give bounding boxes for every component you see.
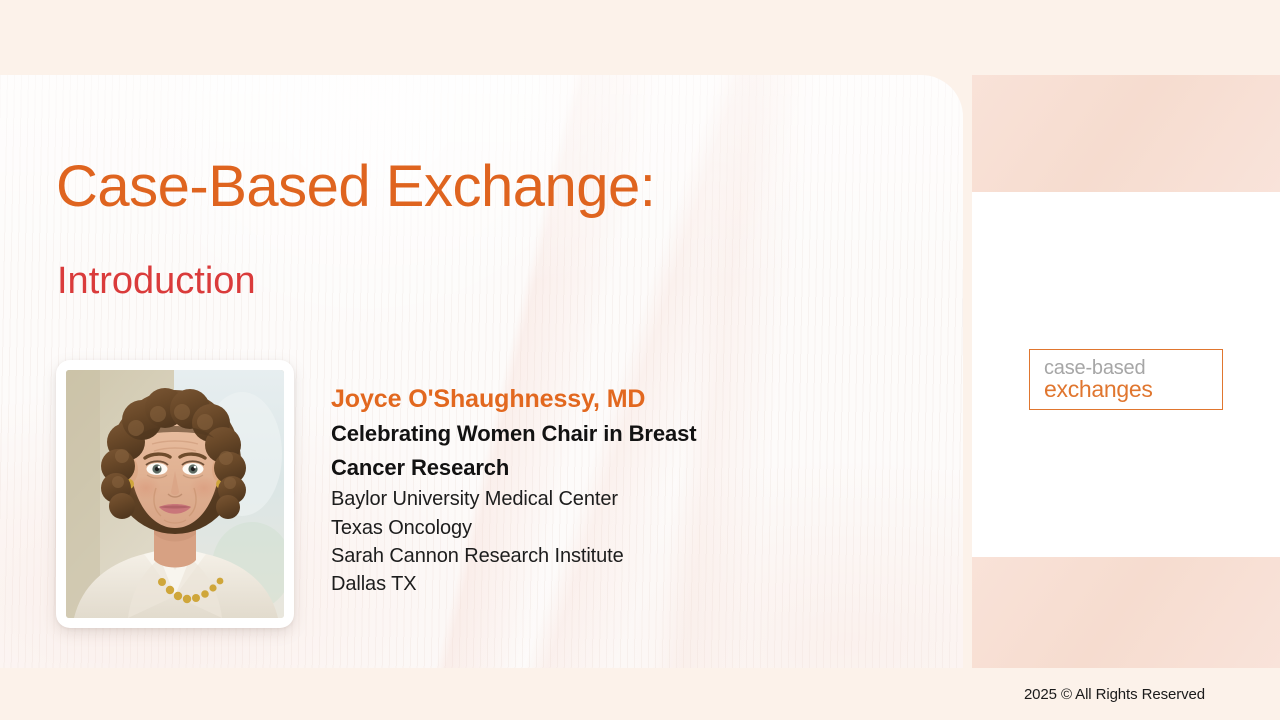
footer-copyright: 2025 © All Rights Reserved (1024, 686, 1205, 703)
side-panel-bottom-band (972, 557, 1280, 668)
speaker-info-block: Joyce O'Shaughnessy, MD Celebrating Wome… (331, 383, 851, 599)
affiliation-item: Dallas TX (331, 570, 851, 598)
side-panel: case-based exchanges (972, 75, 1280, 668)
speaker-photo (66, 370, 284, 618)
side-panel-top-band (972, 75, 1280, 192)
logo-text-case-based: case-based (1044, 358, 1222, 378)
case-based-exchanges-logo: case-based exchanges (1029, 349, 1223, 410)
speaker-photo-frame (56, 360, 294, 628)
speaker-role-line-2: Cancer Research (331, 451, 851, 485)
speaker-portrait-illustration (66, 370, 284, 618)
logo-text-exchanges: exchanges (1044, 378, 1222, 401)
speaker-affiliations: Baylor University Medical Center Texas O… (331, 485, 851, 599)
speaker-name: Joyce O'Shaughnessy, MD (331, 383, 851, 415)
speaker-role: Celebrating Women Chair in Breast Cancer… (331, 417, 851, 485)
page-subtitle: Introduction (57, 262, 256, 300)
affiliation-item: Baylor University Medical Center (331, 485, 851, 513)
page-title: Case-Based Exchange: (56, 158, 655, 216)
affiliation-item: Sarah Cannon Research Institute (331, 542, 851, 570)
affiliation-item: Texas Oncology (331, 514, 851, 542)
speaker-role-line-1: Celebrating Women Chair in Breast (331, 417, 851, 451)
slide-root: Case-Based Exchange: Introduction (0, 0, 1280, 720)
